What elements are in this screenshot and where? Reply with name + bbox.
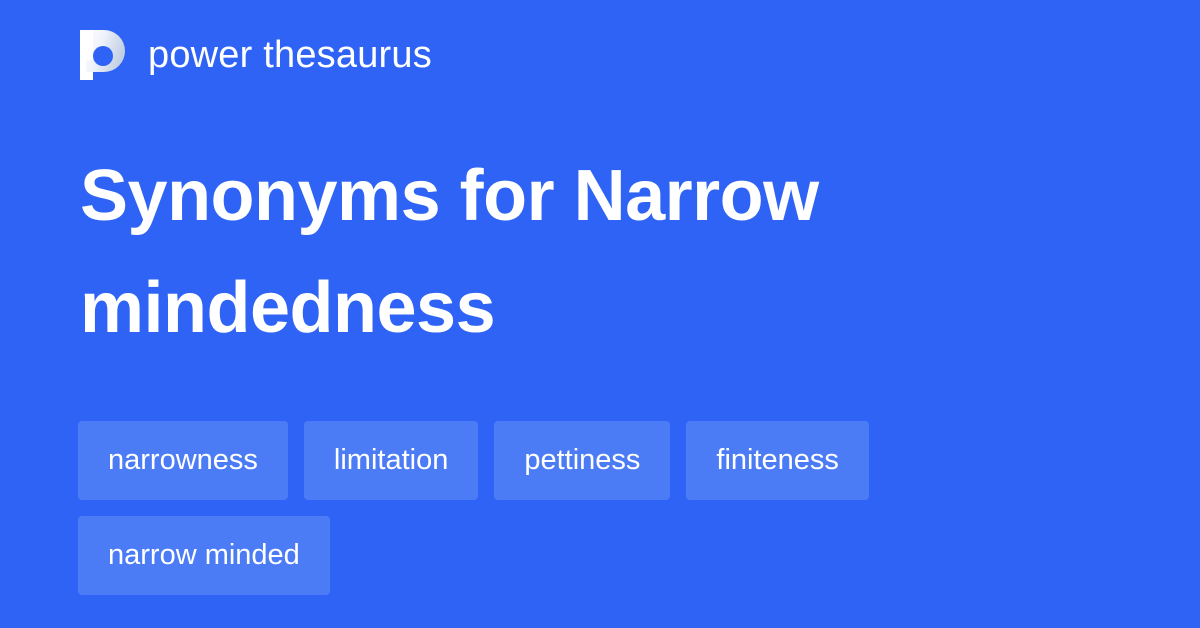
- brand-name: power thesaurus: [148, 36, 432, 74]
- synonym-tag[interactable]: limitation: [304, 421, 478, 500]
- synonym-tag[interactable]: narrow minded: [78, 516, 330, 595]
- share-card: power thesaurus Synonyms for Narrow mind…: [0, 0, 1200, 628]
- brand-lockup[interactable]: power thesaurus: [80, 28, 432, 82]
- synonym-tag[interactable]: narrowness: [78, 421, 288, 500]
- synonym-tag[interactable]: pettiness: [494, 421, 670, 500]
- synonym-tag-list: narrowness limitation pettiness finitene…: [78, 421, 1128, 595]
- synonym-tag[interactable]: finiteness: [686, 421, 869, 500]
- power-thesaurus-b-logo-icon: [80, 30, 126, 80]
- page-title: Synonyms for Narrow mindedness: [80, 140, 1080, 364]
